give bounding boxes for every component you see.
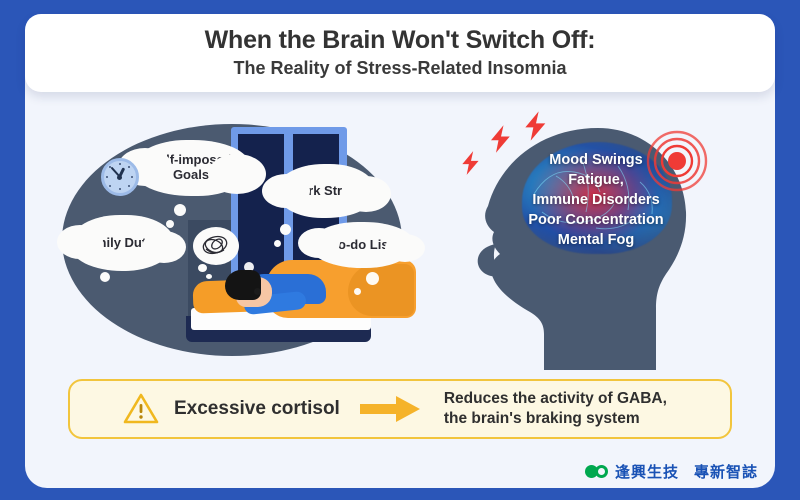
bubble-tail-dot	[280, 224, 291, 235]
banner-cause-label: Excessive cortisol	[174, 398, 340, 420]
banner-effect-text: Reduces the activity of GABA, the brain'…	[444, 389, 667, 428]
lightning-bolt-icon	[458, 150, 484, 176]
clock-icon	[101, 158, 139, 196]
sleeper-eye	[254, 288, 261, 295]
bubble-tail-dot	[166, 220, 174, 228]
brand-name: 逢興生技	[615, 461, 679, 482]
footer-branding: 逢興生技 專新智誌	[585, 461, 758, 482]
infographic-root: When the Brain Won't Switch Off: The Rea…	[0, 0, 800, 500]
symptom-item: Immune Disorders	[494, 190, 698, 210]
bubble-tail-dot	[274, 240, 281, 247]
insomnia-illustration: Self-imposed Goals Work Stress Family Du…	[48, 112, 418, 370]
lightning-bolt-icon	[520, 110, 552, 142]
thought-bubble-self-imposed-goals: Self-imposed Goals	[132, 140, 250, 196]
bubble-tail-dot	[100, 272, 110, 282]
blanket-highlight	[366, 272, 379, 285]
banner-effect-line2: the brain's braking system	[444, 409, 667, 429]
lightning-bolt-icon	[486, 124, 516, 154]
sleeper-hair	[225, 270, 261, 300]
thought-bubble-label: Work Stress	[288, 184, 364, 199]
thought-bubble-work-stress: Work Stress	[276, 164, 376, 218]
symptom-item: Poor Concentration	[494, 210, 698, 230]
warning-triangle-icon	[122, 392, 160, 426]
bubble-tail-dot	[174, 204, 186, 216]
banner-effect-line1: Reduces the activity of GABA,	[444, 389, 667, 409]
scribble-tail	[206, 274, 212, 279]
scribble-tail	[198, 264, 207, 272]
title-card: When the Brain Won't Switch Off: The Rea…	[25, 14, 775, 92]
pulse-signal-icon	[646, 130, 708, 192]
thought-bubble-label: To-do List	[331, 238, 393, 253]
logo-dot-open	[595, 465, 608, 478]
brand-tagline: 專新智誌	[694, 461, 758, 482]
thought-bubble-family-duties: Family Duties	[70, 215, 174, 271]
arrow-right-icon	[360, 394, 422, 424]
symptom-item: Mental Fog	[494, 230, 698, 250]
blanket-highlight	[354, 288, 361, 295]
page-subtitle: The Reality of Stress-Related Insomnia	[233, 59, 566, 79]
brain-symptoms-illustration: Mood Swings Fatigue, Immune Disorders Po…	[448, 108, 748, 370]
scribble-thought-icon	[193, 227, 239, 265]
page-title: When the Brain Won't Switch Off:	[205, 27, 596, 55]
thought-bubble-to-do-list: To-do List	[310, 222, 414, 268]
thought-bubble-label: Family Duties	[80, 236, 165, 251]
two-circles-logo-icon	[585, 465, 608, 478]
cortisol-gaba-banner: Excessive cortisol Reduces the activity …	[68, 379, 732, 439]
thought-bubble-label: Self-imposed Goals	[132, 153, 250, 182]
